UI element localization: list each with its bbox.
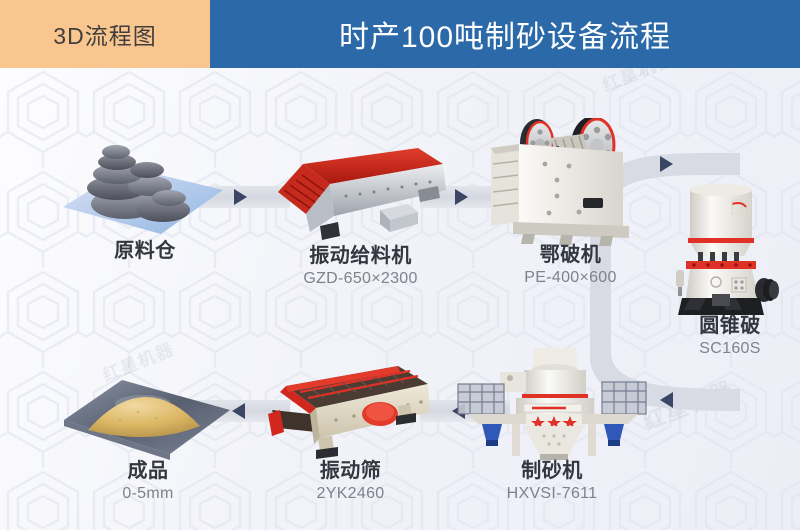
node-label: 成品: [122, 460, 173, 484]
vibrating-screen-icon: [258, 358, 443, 463]
node-vibrating-screen[interactable]: 振动筛 2YK2460: [258, 358, 443, 528]
node-caption: 鄂破机 PE-400×600: [524, 244, 616, 288]
node-raw-material-bin[interactable]: 原料仓: [55, 112, 235, 292]
node-caption: 制砂机 HXVSI-7611: [507, 460, 598, 504]
node-caption: 振动给料机 GZD-650×2300: [303, 245, 417, 289]
node-label: 制砂机: [507, 460, 598, 484]
node-finished-product[interactable]: 成品 0-5mm: [58, 348, 238, 528]
cone-crusher-icon: [660, 182, 800, 317]
node-label: 振动给料机: [303, 245, 417, 269]
arrow-left-icon: [660, 392, 673, 408]
node-sand-making-machine[interactable]: 制砂机 HXVSI-7611: [452, 348, 652, 528]
node-caption: 原料仓: [114, 240, 176, 264]
node-label: 振动筛: [317, 460, 385, 484]
node-jaw-crusher[interactable]: 鄂破机 PE-400×600: [483, 118, 658, 303]
node-caption: 振动筛 2YK2460: [317, 460, 385, 504]
jaw-crusher-icon: [483, 118, 658, 246]
node-caption: 圆锥破 SC160S: [699, 315, 761, 359]
node-model: HXVSI-7611: [507, 484, 598, 505]
flowchart-canvas: 3D流程图 时产100吨制砂设备流程 红星机器 红星机器 红星机器: [0, 0, 800, 530]
arrow-right-icon: [455, 189, 468, 205]
vibrating-feeder-icon: [268, 140, 453, 245]
node-caption: 成品 0-5mm: [122, 460, 173, 504]
node-model: GZD-650×2300: [303, 269, 417, 290]
stone-pile-icon: [55, 112, 235, 242]
node-model: PE-400×600: [524, 268, 616, 289]
node-cone-crusher[interactable]: 圆锥破 SC160S: [660, 182, 800, 372]
header-badge: 3D流程图: [0, 0, 210, 68]
header-bar: 3D流程图 时产100吨制砂设备流程: [0, 0, 800, 68]
vsi-sand-maker-icon: [452, 348, 652, 460]
node-label: 圆锥破: [699, 315, 761, 339]
page-title: 时产100吨制砂设备流程: [339, 12, 671, 56]
sand-pile-icon: [58, 348, 238, 460]
node-label: 原料仓: [114, 240, 176, 264]
header-badge-label: 3D流程图: [53, 17, 156, 51]
node-vibrating-feeder[interactable]: 振动给料机 GZD-650×2300: [268, 140, 453, 320]
node-label: 鄂破机: [524, 244, 616, 268]
header-title-bar: 时产100吨制砂设备流程: [210, 0, 800, 68]
node-model: SC160S: [699, 339, 761, 360]
node-model: 0-5mm: [122, 484, 173, 505]
node-model: 2YK2460: [317, 484, 385, 505]
arrow-right-icon: [660, 156, 673, 172]
arrow-right-icon: [234, 189, 247, 205]
